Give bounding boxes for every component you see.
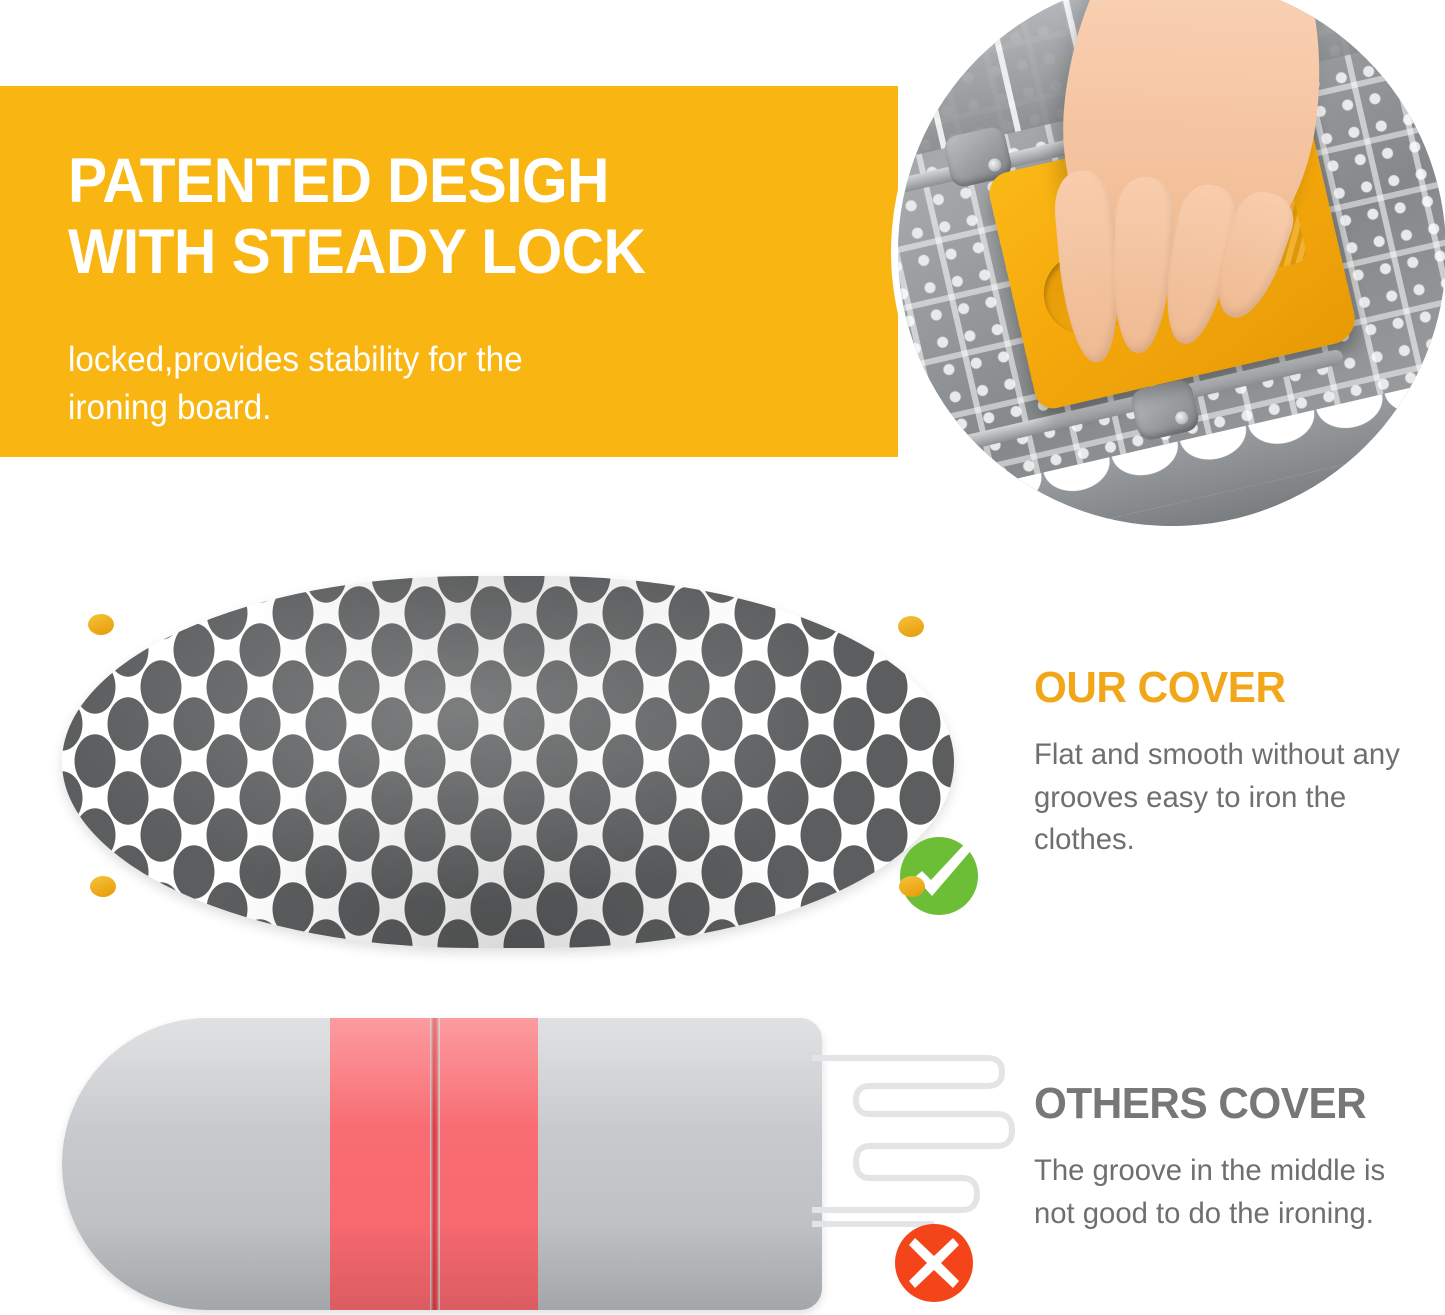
cover-clip-bottom-left: [90, 876, 116, 897]
cover-clip-bottom-right: [899, 876, 925, 897]
product-photo-scene: [898, 0, 1445, 526]
our-cover-description: Flat and smooth without any grooves easy…: [1034, 734, 1424, 862]
our-cover-board-image: [62, 576, 954, 948]
others-cover-text-block: OTHERS COVER The groove in the middle is…: [1034, 1082, 1434, 1235]
our-cover-text-block: OUR COVER Flat and smooth without any gr…: [1034, 666, 1434, 862]
checkmark-icon: [898, 830, 984, 916]
cover-clip-top-right: [898, 616, 924, 637]
cross-icon: [893, 1222, 975, 1304]
others-cover-board-image: [62, 1018, 822, 1310]
others-cover-description: The groove in the middle is not good to …: [1034, 1150, 1424, 1235]
cover-clip-top-left: [88, 614, 114, 635]
banner-headline: PATENTED DESIGH WITH STEADY LOCK: [68, 146, 812, 287]
banner-subheadline: locked,provides stability for the ironin…: [68, 336, 657, 433]
others-cover-title: OTHERS COVER: [1034, 1082, 1418, 1126]
our-cover-title: OUR COVER: [1034, 666, 1418, 710]
others-board-sheen: [62, 1018, 822, 1310]
product-photo-circle: [898, 0, 1445, 526]
cover-shading-overlay: [62, 576, 954, 948]
headline-banner: PATENTED DESIGH WITH STEADY LOCK locked,…: [0, 86, 898, 457]
